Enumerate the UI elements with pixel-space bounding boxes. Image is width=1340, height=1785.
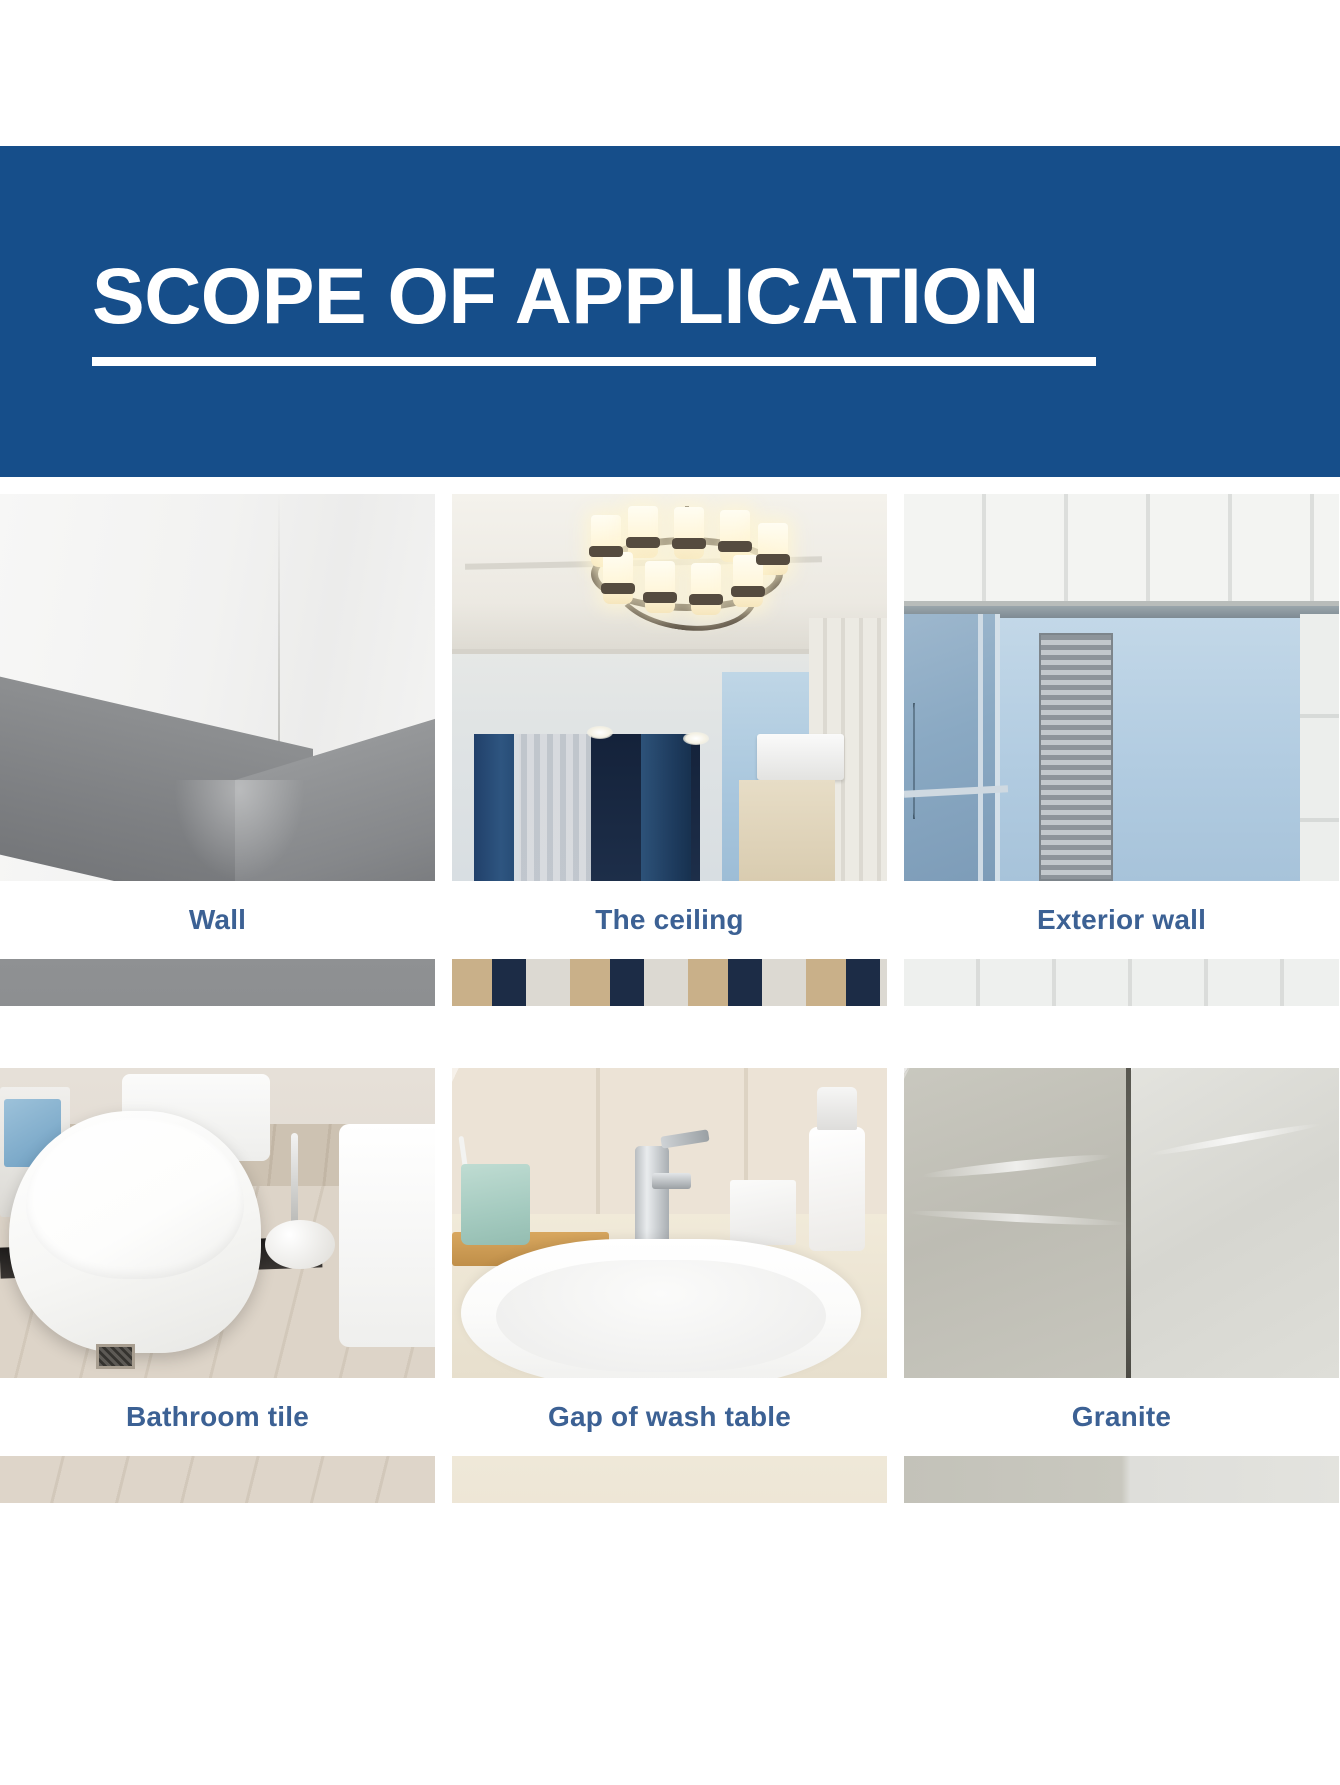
curtain-right <box>641 734 691 881</box>
chandelier-lamp <box>645 561 675 613</box>
application-card-granite[interactable]: Granite <box>904 1068 1339 1503</box>
chandelier <box>583 506 792 661</box>
faucet-spout <box>652 1173 691 1189</box>
chandelier-lamp <box>674 507 704 559</box>
infographic-page: SCOPE OF APPLICATION <box>0 0 1340 1785</box>
chandelier-socket <box>601 583 635 594</box>
grid-row-1: Wall <box>0 494 1340 1006</box>
application-card-exterior-wall[interactable]: Exterior wall <box>904 494 1339 1006</box>
mint-tooth-cup <box>461 1164 531 1245</box>
photo-ceiling <box>452 494 887 881</box>
grid-row-2-cells: Bathroom tile <box>0 1068 1340 1503</box>
chandelier-socket <box>756 554 790 565</box>
photo-strip-exterior-wall <box>904 959 1339 1006</box>
caption-text-wash-table: Gap of wash table <box>548 1401 791 1433</box>
exterior-side-column <box>1300 614 1339 881</box>
wash-table-scene <box>452 1068 887 1378</box>
granite-seam-gap <box>1126 1068 1131 1378</box>
photo-strip-bathroom-tile <box>0 1456 435 1503</box>
chandelier-socket <box>689 594 723 605</box>
chandelier-socket <box>643 592 677 603</box>
photo-wash-table <box>452 1068 887 1378</box>
chandelier-socket <box>718 541 752 552</box>
chandelier-socket <box>626 537 660 548</box>
chandelier-lamp <box>603 552 633 604</box>
chandelier-socket <box>672 538 706 549</box>
granite-scene <box>904 1068 1339 1378</box>
sink-basin-inner <box>496 1260 827 1372</box>
caption-text-granite: Granite <box>1072 1401 1171 1433</box>
caption-text-wall: Wall <box>189 904 246 936</box>
photo-granite <box>904 1068 1339 1378</box>
bathtub-edge <box>339 1124 435 1347</box>
photo-strip-wash-table-inner <box>452 1456 887 1503</box>
title-underline <box>92 357 1096 366</box>
photo-wall <box>0 494 435 881</box>
soap-dispenser-pump <box>817 1087 856 1130</box>
caption-ceiling: The ceiling <box>452 881 887 959</box>
photo-strip-ceiling <box>452 959 887 1006</box>
exterior-louver-vent <box>1039 633 1113 881</box>
downlight-icon <box>683 732 709 745</box>
wall-floor-gloss <box>174 780 305 881</box>
page-title: SCOPE OF APPLICATION <box>92 257 1242 334</box>
chandelier-socket <box>589 546 623 557</box>
soap-dispenser-bottle <box>809 1127 866 1251</box>
palm-reflection <box>913 703 983 819</box>
cardboard-box <box>739 780 835 881</box>
ceiling-window <box>474 734 700 881</box>
photo-exterior-wall <box>904 494 1339 881</box>
caption-exterior-wall: Exterior wall <box>904 881 1339 959</box>
photo-strip-ceiling-inner <box>452 959 887 1006</box>
exterior-panel-band <box>904 494 1339 606</box>
toilet-brush-holder <box>265 1220 335 1270</box>
air-conditioner <box>757 734 844 780</box>
photo-strip-bathroom-tile-inner <box>0 1456 435 1503</box>
application-grid: Wall <box>0 494 1340 1503</box>
toilet-lid <box>26 1118 244 1279</box>
row-spacer <box>0 1006 1340 1068</box>
caption-bathroom-tile: Bathroom tile <box>0 1378 435 1456</box>
photo-strip-wall-inner <box>0 959 435 1006</box>
white-cup <box>730 1180 795 1245</box>
photo-strip-wash-table <box>452 1456 887 1503</box>
caption-text-ceiling: The ceiling <box>595 904 743 936</box>
curtain-left <box>474 734 519 881</box>
toilet-brush-handle <box>291 1133 298 1226</box>
floor-drain <box>96 1344 135 1369</box>
caption-wash-table: Gap of wash table <box>452 1378 887 1456</box>
photo-strip-wall <box>0 959 435 1006</box>
header-inner: SCOPE OF APPLICATION <box>92 257 1242 365</box>
photo-strip-granite-inner <box>904 1456 1339 1503</box>
ceiling-scene <box>452 494 887 881</box>
exterior-scene <box>904 494 1339 881</box>
grid-row-2: Bathroom tile <box>0 1068 1340 1503</box>
chandelier-socket <box>731 586 765 597</box>
granite-slab-right <box>1128 1068 1339 1378</box>
caption-text-exterior-wall: Exterior wall <box>1037 904 1206 936</box>
caption-wall: Wall <box>0 881 435 959</box>
caption-granite: Granite <box>904 1378 1339 1456</box>
application-card-wash-table[interactable]: Gap of wash table <box>452 1068 887 1503</box>
wall-scene <box>0 494 435 881</box>
grid-row-1-cells: Wall <box>0 494 1340 1006</box>
caption-text-bathroom-tile: Bathroom tile <box>126 1401 309 1433</box>
application-card-ceiling[interactable]: The ceiling <box>452 494 887 1006</box>
photo-bathroom-tile <box>0 1068 435 1378</box>
application-card-wall[interactable]: Wall <box>0 494 435 1006</box>
header-banner: SCOPE OF APPLICATION <box>0 146 1340 477</box>
application-card-bathroom-tile[interactable]: Bathroom tile <box>0 1068 435 1503</box>
photo-strip-granite <box>904 1456 1339 1503</box>
sheer-curtain <box>514 734 591 881</box>
door-mullion <box>978 614 983 881</box>
chandelier-lamp <box>628 506 658 558</box>
bathroom-scene <box>0 1068 435 1378</box>
photo-strip-exterior-wall-inner <box>904 959 1339 1006</box>
chandelier-lamp <box>691 563 721 615</box>
